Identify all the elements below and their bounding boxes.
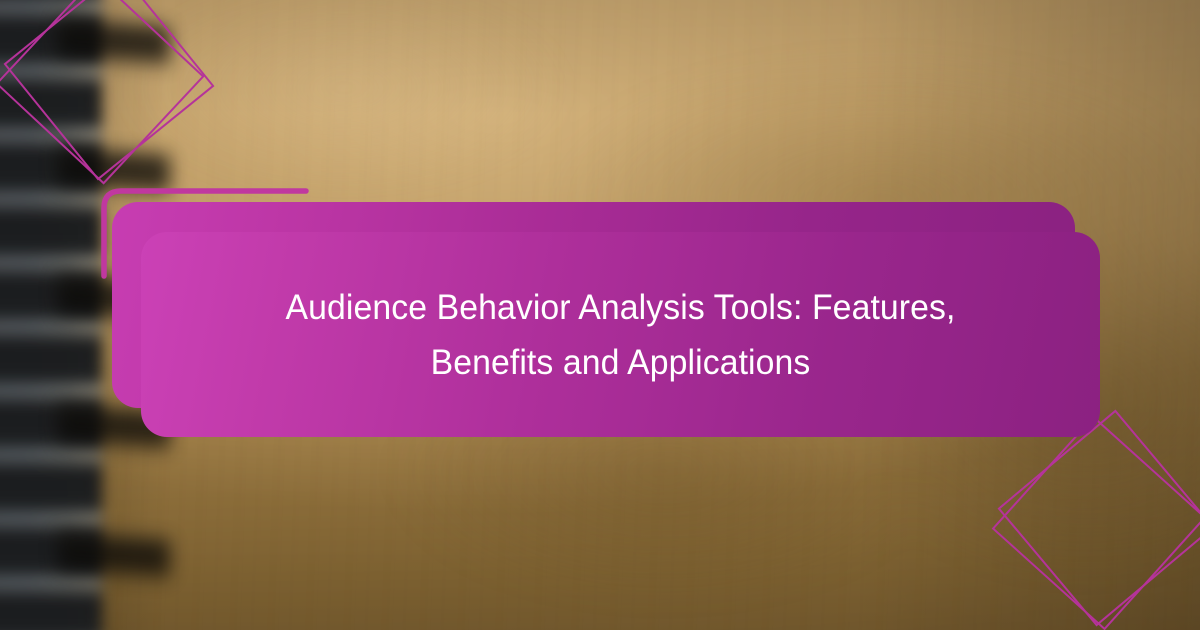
page-title: Audience Behavior Analysis Tools: Featur… bbox=[200, 280, 1041, 390]
title-container: Audience Behavior Analysis Tools: Featur… bbox=[141, 232, 1100, 437]
share-card-canvas: Audience Behavior Analysis Tools: Featur… bbox=[0, 0, 1200, 630]
title-line-1: Audience Behavior Analysis Tools: Featur… bbox=[285, 288, 955, 327]
title-line-2: Benefits and Applications bbox=[431, 343, 811, 382]
